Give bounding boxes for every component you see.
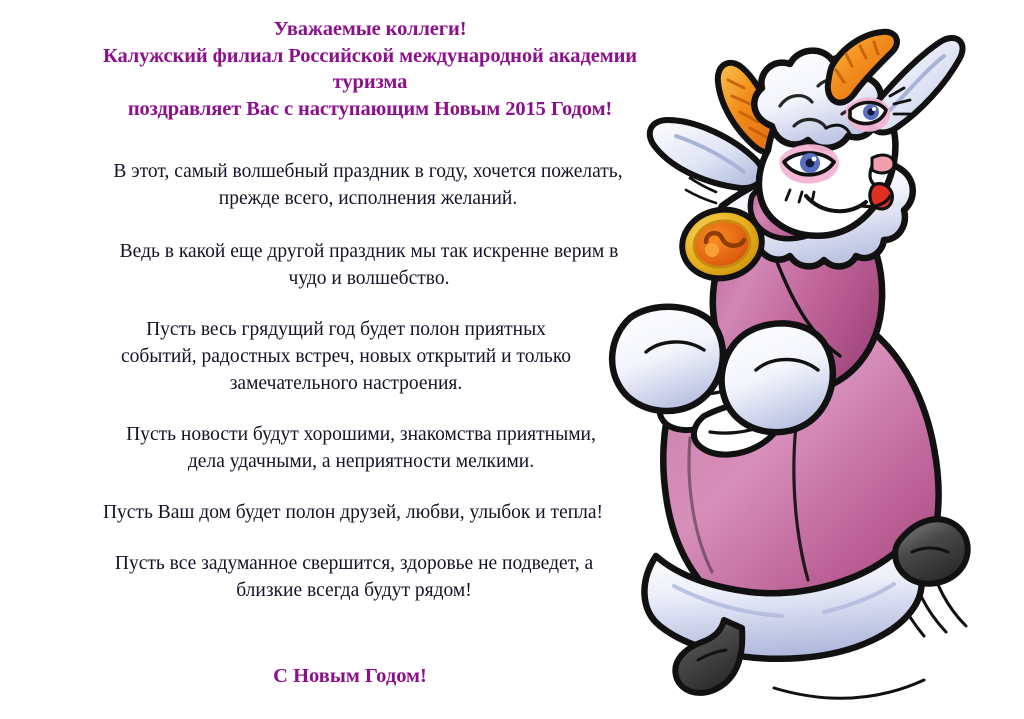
paragraph-plans-come-true: Пусть все задуманное свершится, здоровье… <box>24 550 684 604</box>
paragraph-line: дела удачными, а неприятности мелкими. <box>36 448 686 475</box>
goat-illustration <box>594 0 1024 719</box>
paragraph-good-news-wishes: Пусть новости будут хорошими, знакомства… <box>36 421 686 475</box>
new-year-greeting-card: Уважаемые коллеги! Калужский филиал Росс… <box>0 0 1024 719</box>
paragraph-line: замечательного настроения. <box>26 370 666 397</box>
paragraph-coming-year-wishes: Пусть весь грядущий год будет полон прия… <box>26 316 666 397</box>
paragraph-home-full-of-friends: Пусть Ваш дом будет полон друзей, любви,… <box>28 499 678 526</box>
paragraph-line: событий, радостных встреч, новых открыти… <box>26 343 666 370</box>
paragraph-line: Пусть все задуманное свершится, здоровье… <box>24 550 684 577</box>
paragraph-line: Пусть новости будут хорошими, знакомства… <box>36 421 686 448</box>
paragraph-line: близкие всегда будут рядом! <box>24 577 684 604</box>
paragraph-line: Пусть Ваш дом будет полон друзей, любви,… <box>28 499 678 526</box>
paragraph-line: Пусть весь грядущий год будет полон прия… <box>26 316 666 343</box>
closing-greeting: С Новым Годом! <box>30 663 670 689</box>
